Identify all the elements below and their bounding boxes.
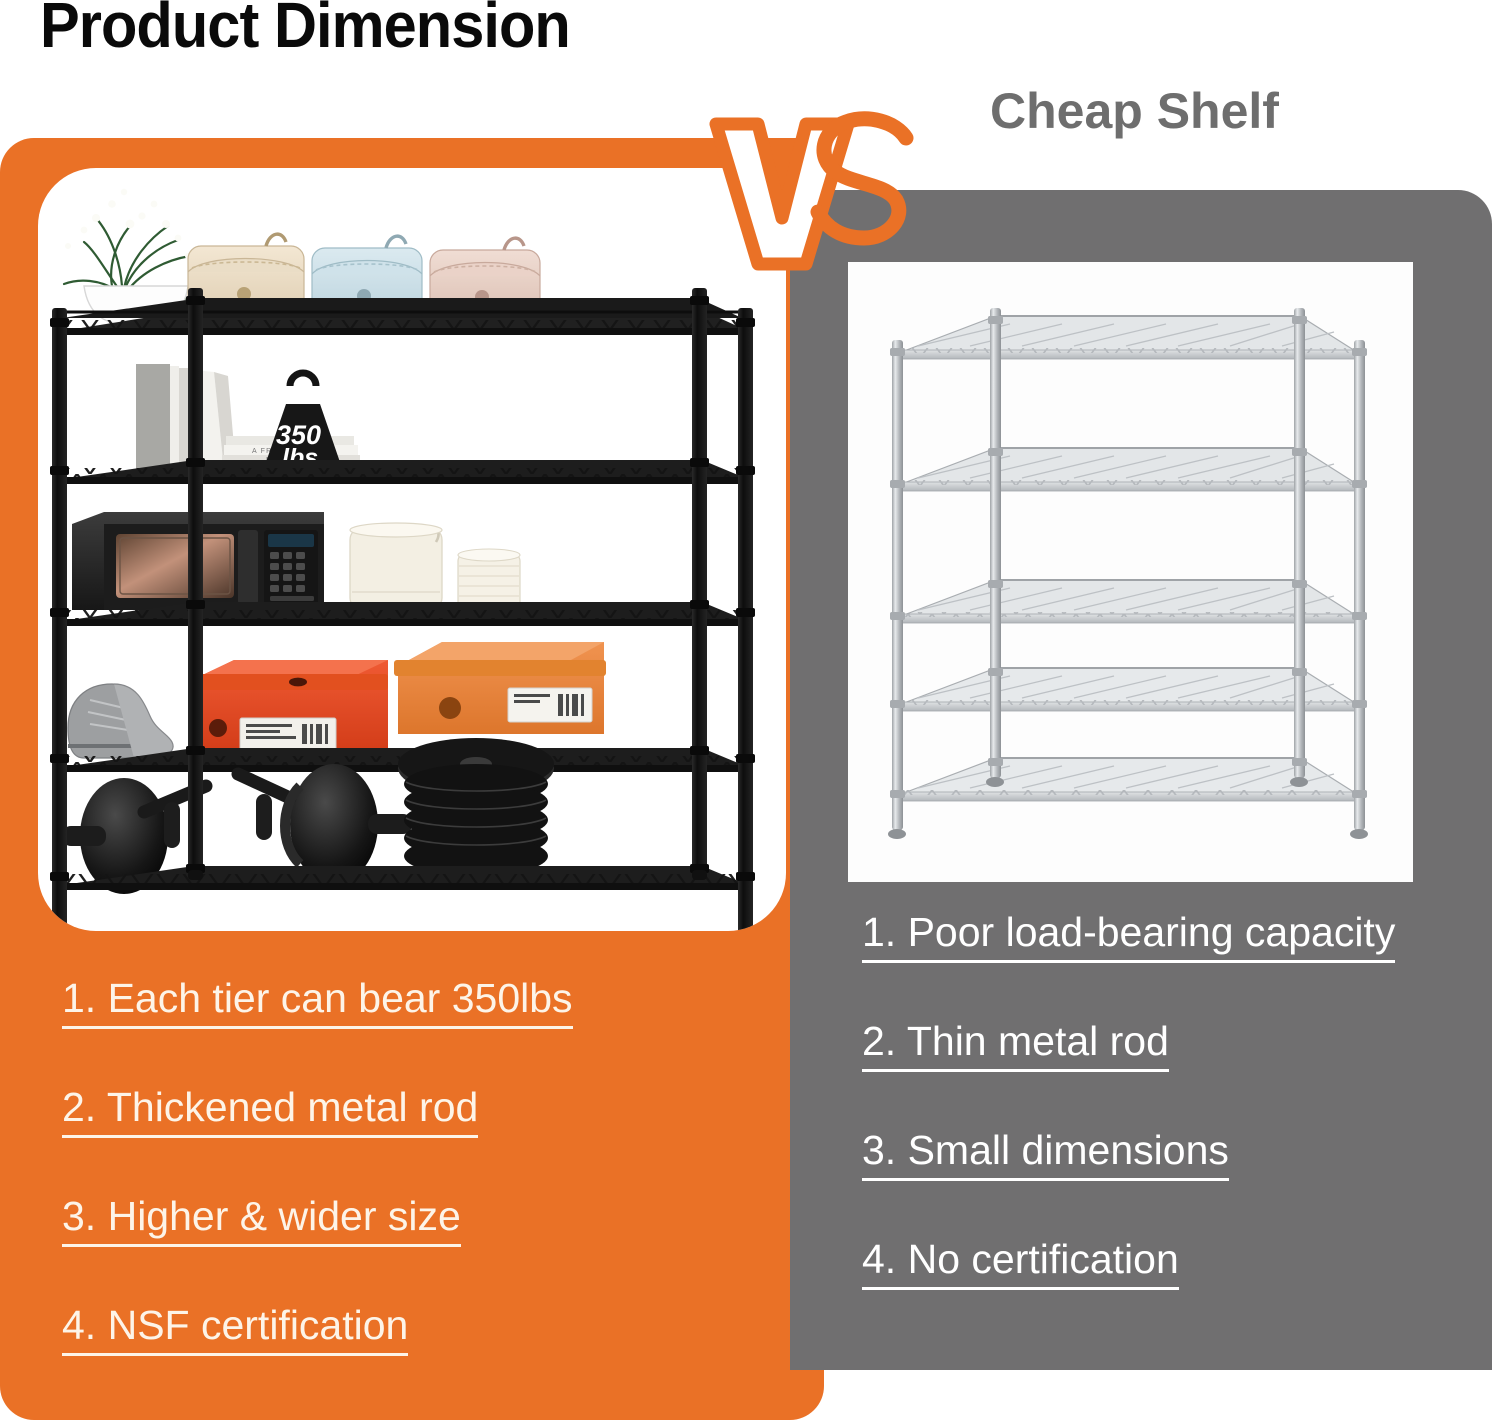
shoe-box-orange bbox=[394, 642, 606, 734]
shelf-unit-black: A FRAME FOR LIFE LONDON LES PLAISIRS 350… bbox=[50, 189, 755, 931]
cream-pitcher bbox=[350, 523, 442, 609]
tier3-contents bbox=[72, 512, 520, 610]
chrome-deck-5 bbox=[896, 758, 1360, 801]
weight-plate-stack bbox=[398, 738, 554, 876]
product-feature-3: 3. Higher & wider size bbox=[62, 1196, 461, 1247]
book-upright-1 bbox=[136, 364, 170, 468]
product-feature-4: 4. NSF certification bbox=[62, 1305, 408, 1356]
shelf-unit-chrome bbox=[888, 308, 1368, 839]
ribbed-canister bbox=[458, 549, 520, 610]
page-title: Product Dimension bbox=[40, 0, 570, 59]
product-image-card: A FRAME FOR LIFE LONDON LES PLAISIRS 350… bbox=[38, 168, 786, 931]
tier4-contents bbox=[68, 642, 606, 758]
chrome-deck-3 bbox=[896, 580, 1360, 623]
product-feature-list: 1. Each tier can bear 350lbs 2. Thickene… bbox=[62, 978, 762, 1356]
shoe-box-red bbox=[188, 660, 388, 754]
competitor-feature-2: 2. Thin metal rod bbox=[862, 1021, 1169, 1072]
competitor-feature-4: 4. No certification bbox=[862, 1239, 1179, 1290]
competitor-feature-list: 1. Poor load-bearing capacity 2. Thin me… bbox=[862, 912, 1500, 1290]
sneakers bbox=[68, 684, 173, 758]
chrome-deck-2 bbox=[896, 448, 1360, 491]
infographic-root: Product Dimension Cheap Shelf bbox=[0, 0, 1500, 1422]
competitor-image-card bbox=[848, 262, 1413, 882]
shelf-deck-5 bbox=[56, 866, 750, 890]
product-feature-2: 2. Thickened metal rod bbox=[62, 1087, 478, 1138]
chrome-deck-1 bbox=[896, 316, 1360, 359]
product-feature-1: 1. Each tier can bear 350lbs bbox=[62, 978, 573, 1029]
chrome-deck-4 bbox=[896, 668, 1360, 711]
competitor-title: Cheap Shelf bbox=[990, 82, 1279, 140]
competitor-feature-1: 1. Poor load-bearing capacity bbox=[862, 912, 1395, 963]
competitor-feature-3: 3. Small dimensions bbox=[862, 1130, 1229, 1181]
chrome-wire-shelf-illustration bbox=[848, 262, 1413, 882]
black-wire-shelf-illustration: A FRAME FOR LIFE LONDON LES PLAISIRS 350… bbox=[38, 168, 786, 931]
plant-flowers bbox=[65, 189, 191, 259]
